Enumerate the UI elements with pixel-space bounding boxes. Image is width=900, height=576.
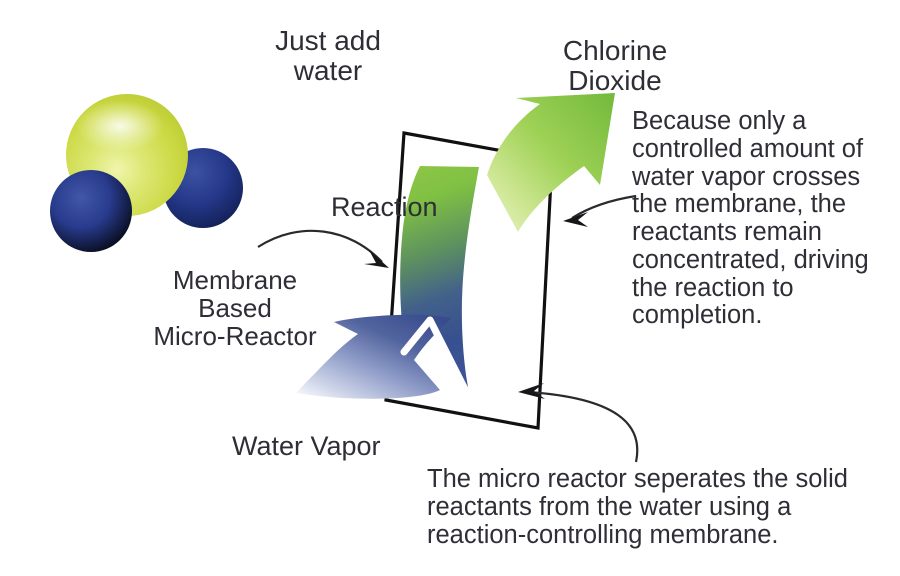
leader-membrane-reactor — [258, 231, 389, 268]
green-arrow-body — [487, 93, 615, 232]
label-just-add-water: Just add water — [228, 26, 428, 86]
leader-arrowhead-left — [364, 250, 389, 268]
oxygen-highlight — [76, 100, 164, 152]
label-water-vapor: Water Vapor — [232, 432, 381, 461]
leader-right-paragraph — [563, 196, 636, 227]
leader-bottom-paragraph — [518, 383, 637, 462]
leader-line-bottom — [528, 392, 637, 462]
label-membrane-based-micro-reactor: Membrane Based Micro-Reactor — [120, 266, 350, 350]
hydrogen-atom-left — [50, 170, 132, 252]
label-chlorine-dioxide: Chlorine Dioxide — [520, 36, 710, 96]
leader-line-left — [258, 231, 382, 262]
diagram-canvas: Just add water Chlorine Dioxide Reaction… — [0, 0, 900, 576]
annotation-paragraph-bottom: The micro reactor seperates the solid re… — [427, 465, 887, 549]
annotation-paragraph-right: Because only a controlled amount of wate… — [632, 108, 892, 330]
leader-arrowhead-right — [563, 212, 588, 227]
chlorine-dioxide-output-arrow — [487, 93, 615, 232]
label-reaction: Reaction — [331, 193, 438, 222]
water-molecule — [50, 94, 243, 252]
